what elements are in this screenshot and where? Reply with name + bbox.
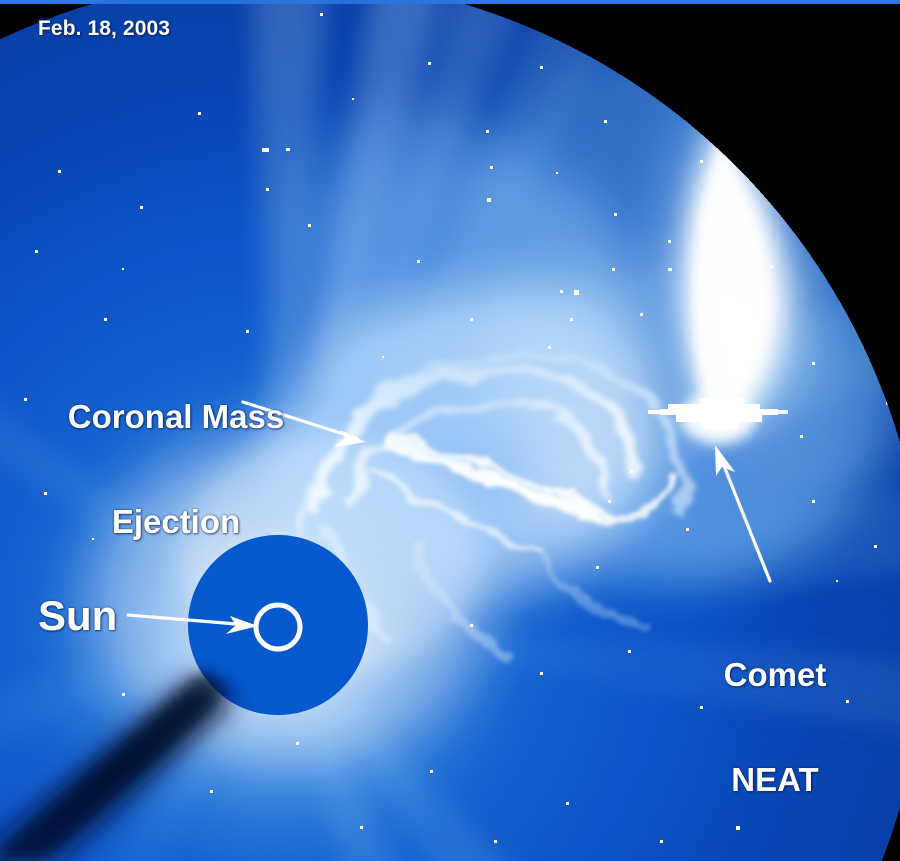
corona-scene: [0, 0, 900, 861]
top-edge-strip: [0, 0, 900, 4]
coronagraph-image: Feb. 18, 2003 Coronal Mass Ejection Sun …: [0, 0, 900, 861]
